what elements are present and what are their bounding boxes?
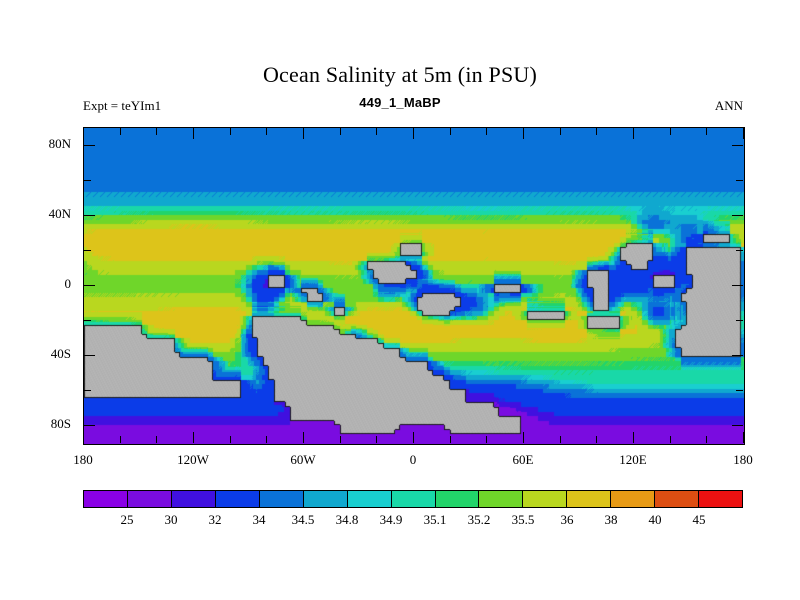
x-axis-tick-top (560, 128, 561, 135)
x-axis-label: 120E (593, 452, 673, 468)
y-axis-tick-right (736, 250, 743, 251)
x-axis-tick-top (193, 128, 194, 139)
x-axis-tick-top (450, 128, 451, 135)
y-axis-tick (84, 285, 95, 286)
x-axis-label: 180 (43, 452, 123, 468)
x-axis-tick (596, 436, 597, 443)
x-axis-tick (230, 436, 231, 443)
colorbar-band (392, 491, 436, 507)
x-axis-tick-top (743, 128, 744, 139)
colorbar-bands (83, 490, 743, 508)
x-axis-tick-top (303, 128, 304, 139)
y-axis-tick (84, 355, 95, 356)
y-axis-label: 80S (11, 416, 71, 432)
colorbar-band (128, 491, 172, 507)
x-axis-tick-top (230, 128, 231, 135)
y-axis-label: 40S (11, 346, 71, 362)
x-axis-tick (706, 436, 707, 443)
y-axis-label: 80N (11, 136, 71, 152)
x-axis-tick (303, 432, 304, 443)
x-axis-tick (486, 436, 487, 443)
x-axis-tick (413, 432, 414, 443)
x-axis-tick (266, 436, 267, 443)
x-axis-tick-top (596, 128, 597, 135)
x-axis-tick-top (486, 128, 487, 135)
y-axis-tick-right (736, 320, 743, 321)
x-axis-tick-top (706, 128, 707, 135)
salinity-map-figure: Ocean Salinity at 5m (in PSU) 449_1_MaBP… (0, 0, 800, 600)
colorbar-band (479, 491, 523, 507)
x-axis-tick-top (633, 128, 634, 139)
x-axis-tick (156, 436, 157, 443)
x-axis-tick (83, 432, 84, 443)
y-axis-tick (84, 390, 91, 391)
x-axis-tick (120, 436, 121, 443)
x-axis-tick-top (83, 128, 84, 139)
y-axis-tick (84, 215, 95, 216)
y-axis-tick (84, 320, 91, 321)
x-axis-tick (450, 436, 451, 443)
x-axis-tick-top (413, 128, 414, 139)
colorbar-band (699, 491, 742, 507)
x-axis-tick-top (156, 128, 157, 135)
x-axis-tick (523, 432, 524, 443)
x-axis-tick-top (340, 128, 341, 135)
y-axis-tick (84, 180, 91, 181)
season-label: ANN (715, 98, 743, 114)
y-axis-tick (84, 425, 95, 426)
x-axis-tick (560, 436, 561, 443)
x-axis-label: 0 (373, 452, 453, 468)
x-axis-tick (193, 432, 194, 443)
y-axis-label: 0 (11, 276, 71, 292)
y-axis-tick-right (732, 285, 743, 286)
page-title: Ocean Salinity at 5m (in PSU) (0, 62, 800, 88)
y-axis-tick-right (732, 425, 743, 426)
x-axis-tick (633, 432, 634, 443)
y-axis-label: 40N (11, 206, 71, 222)
salinity-field-canvas (84, 128, 744, 444)
x-axis-tick-top (266, 128, 267, 135)
colorbar-band (436, 491, 480, 507)
x-axis-label: 120W (153, 452, 233, 468)
colorbar-band (304, 491, 348, 507)
colorbar-band (655, 491, 699, 507)
map-plot-area (83, 127, 745, 445)
colorbar-band (216, 491, 260, 507)
y-axis-tick (84, 145, 95, 146)
colorbar-band (523, 491, 567, 507)
x-axis-tick (340, 436, 341, 443)
x-axis-tick (670, 436, 671, 443)
colorbar-band (84, 491, 128, 507)
x-axis-tick (743, 432, 744, 443)
y-axis-tick-right (732, 355, 743, 356)
experiment-label: Expt = teYIm1 (83, 98, 161, 114)
colorbar-tick-label: 45 (669, 512, 729, 528)
colorbar (83, 490, 743, 508)
x-axis-tick (376, 436, 377, 443)
x-axis-tick-top (376, 128, 377, 135)
x-axis-tick-top (670, 128, 671, 135)
colorbar-band (348, 491, 392, 507)
colorbar-band (611, 491, 655, 507)
colorbar-band (567, 491, 611, 507)
x-axis-tick-top (120, 128, 121, 135)
x-axis-label: 60E (483, 452, 563, 468)
colorbar-band (172, 491, 216, 507)
x-axis-label: 180 (703, 452, 783, 468)
y-axis-tick-right (736, 180, 743, 181)
y-axis-tick-right (732, 215, 743, 216)
y-axis-tick (84, 250, 91, 251)
x-axis-tick-top (523, 128, 524, 139)
x-axis-label: 60W (263, 452, 343, 468)
y-axis-tick-right (732, 145, 743, 146)
y-axis-tick-right (736, 390, 743, 391)
colorbar-band (260, 491, 304, 507)
